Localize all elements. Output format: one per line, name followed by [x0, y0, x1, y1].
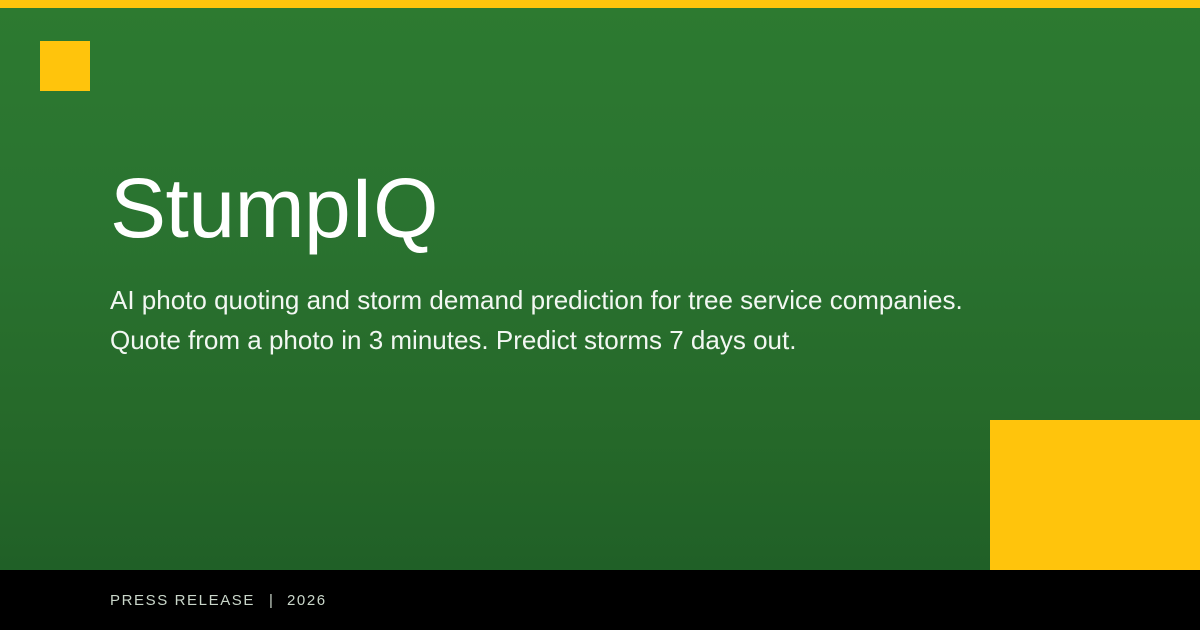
page-subtitle: AI photo quoting and storm demand predic… — [110, 280, 1030, 360]
corner-accent-block — [990, 420, 1200, 570]
footer-separator: | — [255, 593, 287, 608]
footer-bar: PRESS RELEASE | 2026 — [0, 570, 1200, 630]
slide-content: StumpIQ AI photo quoting and storm deman… — [110, 160, 1090, 360]
footer-label: PRESS RELEASE — [110, 593, 255, 608]
page-title: StumpIQ — [110, 160, 1090, 256]
footer-meta: PRESS RELEASE | 2026 — [110, 570, 327, 630]
logo-mark-square — [40, 41, 90, 91]
footer-year: 2026 — [287, 593, 327, 608]
press-release-slide: StumpIQ AI photo quoting and storm deman… — [0, 0, 1200, 630]
top-accent-bar — [0, 0, 1200, 8]
